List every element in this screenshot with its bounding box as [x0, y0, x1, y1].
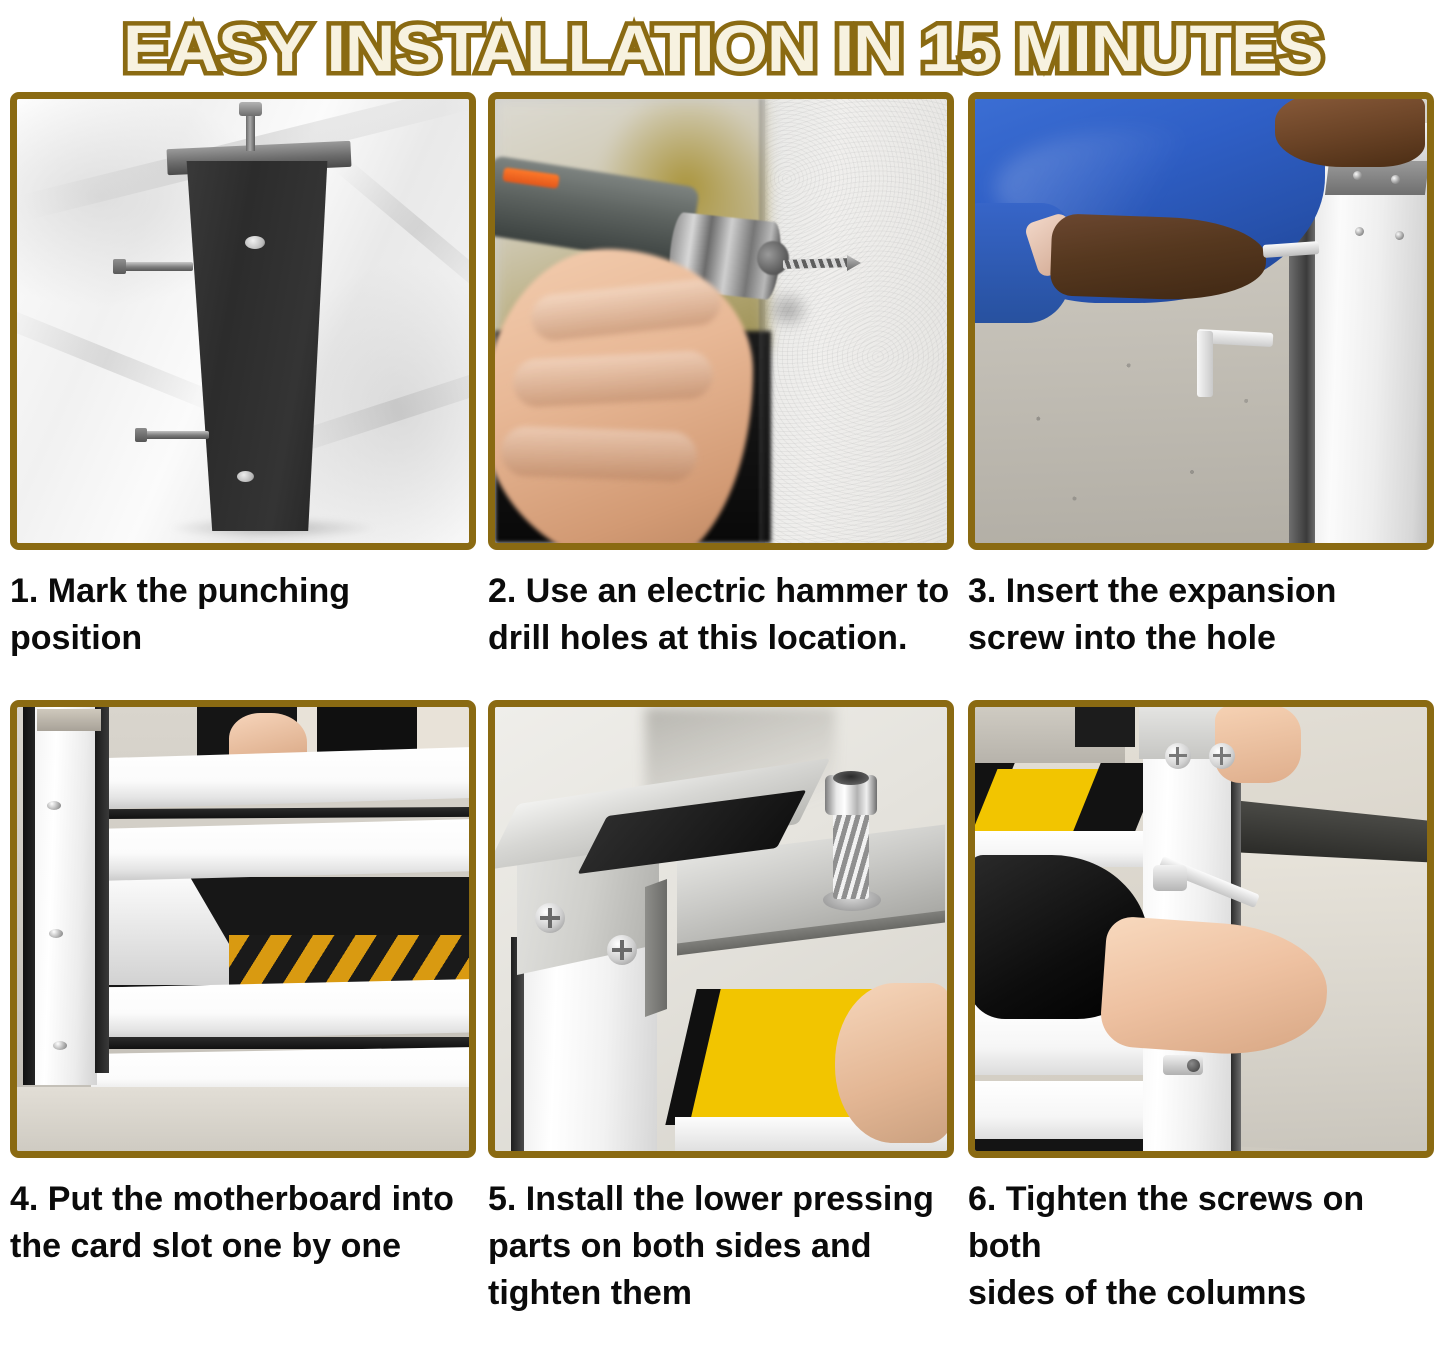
step-5-caption: 5. Install the lower pressing parts on b…: [488, 1176, 954, 1317]
motherboard-slot-photo: [10, 700, 476, 1158]
step-3-cell: 3. Insert the expansion screw into the h…: [960, 92, 1445, 700]
step-5-cell: 5. Install the lower pressing parts on b…: [480, 700, 960, 1352]
step-2-caption: 2. Use an electric hammer to drill holes…: [488, 568, 954, 662]
tighten-screws-cell: 6. Tighten the screws on both sides of t…: [960, 700, 1445, 1352]
marking-position-photo: [10, 92, 476, 550]
lower-pressing-parts-photo: [488, 700, 954, 1158]
expansion-screw-photo: [968, 92, 1434, 550]
step-2-cell: 2. Use an electric hammer to drill holes…: [480, 92, 960, 700]
tighten-screws-photo: [968, 700, 1434, 1158]
step-1-caption: 1. Mark the punching position: [10, 568, 474, 662]
drilling-holes-photo: [488, 92, 954, 550]
steps-grid: 1. Mark the punching position: [0, 92, 1445, 1352]
page-title: EASY INSTALLATION IN 15 MINUTES: [123, 15, 1322, 81]
page-title-banner: EASY INSTALLATION IN 15 MINUTES: [0, 0, 1445, 92]
installation-guide-page: EASY INSTALLATION IN 15 MINUTES: [0, 0, 1445, 1352]
step-3-caption: 3. Insert the expansion screw into the h…: [968, 568, 1435, 662]
step-6-caption: 6. Tighten the screws on both sides of t…: [968, 1176, 1435, 1317]
step-4-cell: 4. Put the motherboard into the card slo…: [0, 700, 480, 1352]
step-1-cell: 1. Mark the punching position: [0, 92, 480, 700]
step-4-caption: 4. Put the motherboard into the card slo…: [10, 1176, 474, 1270]
